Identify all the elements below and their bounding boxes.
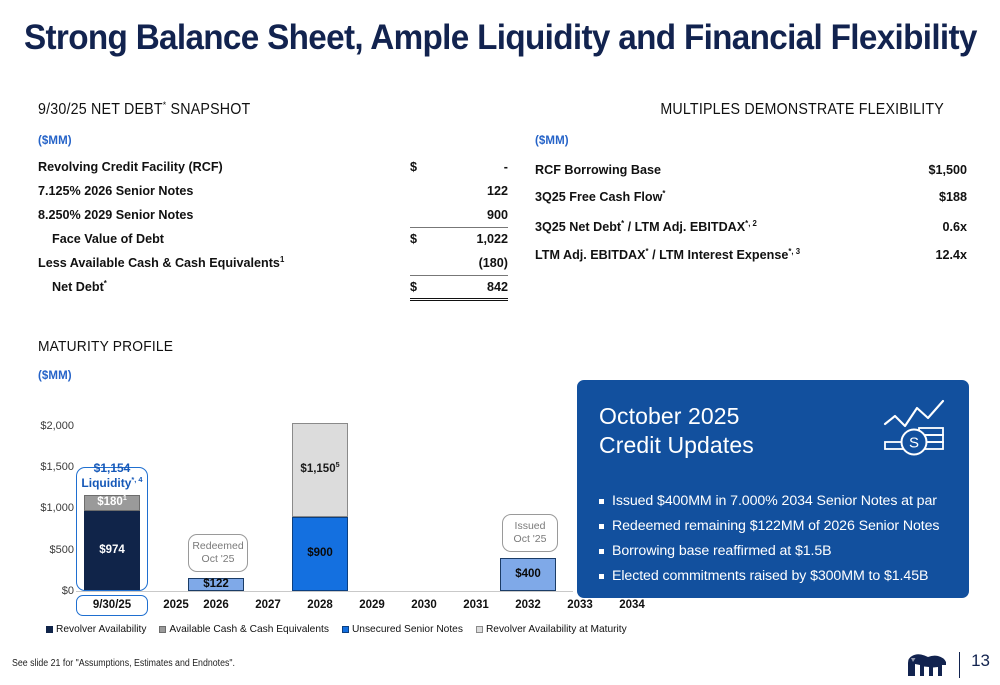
bullet-icon xyxy=(599,549,604,554)
issued-note-box: Issued Oct '25 xyxy=(502,514,558,552)
multiples-unit-label: ($MM) xyxy=(535,135,569,147)
row-value: 122 xyxy=(440,179,508,203)
row-value: $188 xyxy=(897,182,967,212)
legend-swatch-icon xyxy=(342,626,349,633)
list-item-label: Redeemed remaining $122MM of 2026 Senior… xyxy=(612,517,939,535)
net-debt-heading-main: 9/30/25 NET DEBT xyxy=(38,101,163,118)
table-row: 7.125% 2026 Senior Notes 122 xyxy=(38,179,508,203)
x-axis-label-2030: 2030 xyxy=(400,599,448,611)
bar-segment-revolver-availability: $974 xyxy=(84,511,140,591)
x-axis-label-2027: 2027 xyxy=(244,599,292,611)
x-axis-label-2031: 2031 xyxy=(452,599,500,611)
row-label: RCF Borrowing Base xyxy=(535,158,897,182)
row-label: 8.250% 2029 Senior Notes xyxy=(38,203,410,227)
callout-bullet-list: Issued $400MM in 7.000% 2034 Senior Note… xyxy=(599,492,955,592)
legend-swatch-icon xyxy=(476,626,483,633)
row-label-text: Net Debt xyxy=(52,280,104,294)
legend-label: Revolver Availability at Maturity xyxy=(486,624,627,635)
row-currency xyxy=(410,251,440,275)
note-line-1: Issued xyxy=(515,520,546,533)
table-row: LTM Adj. EBITDAX* / LTM Interest Expense… xyxy=(535,242,967,268)
bar-9-30-25: $974 $1801 xyxy=(84,495,140,591)
x-axis-label-2034: 2034 xyxy=(608,599,656,611)
callout-title-line-2: Credit Updates xyxy=(599,432,754,458)
footnote: See slide 21 for "Assumptions, Estimates… xyxy=(12,658,235,669)
liquidity-label: $1,154 Liquidity*, 4 xyxy=(76,461,148,490)
row-value: 842 xyxy=(440,275,508,299)
list-item: Issued $400MM in 7.000% 2034 Senior Note… xyxy=(599,492,955,510)
liquidity-amount: $1,154 xyxy=(94,461,131,475)
x-axis-label-2029: 2029 xyxy=(348,599,396,611)
bar-2029: $900 $1,1505 xyxy=(292,423,348,591)
row-label-footnote: * xyxy=(104,279,107,288)
bullet-icon xyxy=(599,574,604,579)
row-label-text: 3Q25 Free Cash Flow xyxy=(535,190,662,204)
y-tick-label: $1,000 xyxy=(28,502,74,514)
page-number: 13 xyxy=(971,651,990,671)
slide-root: Strong Balance Sheet, Ample Liquidity an… xyxy=(0,0,1000,685)
liquidity-footnote: *, 4 xyxy=(131,475,142,484)
x-axis-label-2026: 2026 xyxy=(192,599,240,611)
note-line-1: Redeemed xyxy=(192,540,243,553)
row-label: Face Value of Debt xyxy=(38,227,410,251)
redeemed-note-box: Redeemed Oct '25 xyxy=(188,534,248,572)
x-axis-label-9-30-25: 9/30/25 xyxy=(76,599,148,611)
row-value: - xyxy=(440,155,508,179)
multiples-table: RCF Borrowing Base $1,500 3Q25 Free Cash… xyxy=(535,158,967,268)
row-currency: $ xyxy=(410,275,440,299)
list-item: Elected commitments raised by $300MM to … xyxy=(599,567,955,585)
bar-segment-unsecured-senior-notes: $400 xyxy=(500,558,556,591)
maturity-heading: MATURITY PROFILE xyxy=(38,338,173,355)
row-currency: $ xyxy=(410,155,440,179)
company-logo-icon xyxy=(906,652,948,678)
credit-updates-callout: October 2025 Credit Updates S Issued $40… xyxy=(577,380,969,598)
table-row: 3Q25 Net Debt* / LTM Adj. EBITDAX*, 2 0.… xyxy=(535,212,967,242)
multiples-heading: MULTIPLES DEMONSTRATE FLEXIBILITY xyxy=(660,101,944,119)
legend-label: Revolver Availability xyxy=(56,624,146,635)
bar-2034: $400 xyxy=(500,558,556,591)
legend-item-available-cash: Available Cash & Cash Equivalents xyxy=(159,624,329,635)
y-tick-label: $0 xyxy=(28,585,74,597)
table-row: Face Value of Debt $ 1,022 xyxy=(38,227,508,251)
net-debt-table: Revolving Credit Facility (RCF) $ - 7.12… xyxy=(38,155,508,301)
x-axis-label-2032: 2032 xyxy=(504,599,552,611)
row-value: 900 xyxy=(440,203,508,227)
table-row: Revolving Credit Facility (RCF) $ - xyxy=(38,155,508,179)
y-tick-label: $2,000 xyxy=(28,420,74,432)
y-tick-label: $1,500 xyxy=(28,461,74,473)
row-value: $1,500 xyxy=(897,158,967,182)
callout-title: October 2025 Credit Updates xyxy=(599,402,754,460)
row-label: 3Q25 Free Cash Flow* xyxy=(535,182,897,212)
net-debt-heading-tail: SNAPSHOT xyxy=(166,101,250,118)
legend-item-revolver-availability: Revolver Availability xyxy=(46,624,146,635)
maturity-chart: $2,000 $1,500 $1,000 $500 $0 $974 $1801 … xyxy=(28,415,573,600)
row-label: 3Q25 Net Debt* / LTM Adj. EBITDAX*, 2 xyxy=(535,212,897,242)
list-item: Redeemed remaining $122MM of 2026 Senior… xyxy=(599,517,955,535)
maturity-unit-label: ($MM) xyxy=(38,370,72,382)
liquidity-word: Liquidity xyxy=(81,476,131,490)
table-row: RCF Borrowing Base $1,500 xyxy=(535,158,967,182)
list-item: Borrowing base reaffirmed at $1.5B xyxy=(599,542,955,560)
legend-swatch-icon xyxy=(159,626,166,633)
row-value: (180) xyxy=(440,251,508,275)
legend-item-unsecured-senior-notes: Unsecured Senior Notes xyxy=(342,624,463,635)
bar-segment-available-cash: $1801 xyxy=(84,495,140,511)
bullet-icon xyxy=(599,524,604,529)
bar-value-label: $400 xyxy=(515,569,541,581)
bar-segment-unsecured-senior-notes: $122 xyxy=(188,578,244,591)
bar-2026: $122 xyxy=(188,578,244,591)
x-axis-label-2028: 2028 xyxy=(296,599,344,611)
bar-segment-revolver-availability-at-maturity: $1,1505 xyxy=(292,423,348,517)
bar-segment-unsecured-senior-notes: $900 xyxy=(292,517,348,591)
row-currency: $ xyxy=(410,227,440,251)
row-label-text: Less Available Cash & Cash Equivalents xyxy=(38,256,280,270)
list-item-label: Issued $400MM in 7.000% 2034 Senior Note… xyxy=(612,492,937,510)
bar-value-label: $1,1505 xyxy=(300,464,339,476)
legend-label: Available Cash & Cash Equivalents xyxy=(169,624,329,635)
chart-legend: Revolver Availability Available Cash & C… xyxy=(46,624,627,635)
bullet-icon xyxy=(599,499,604,504)
x-axis-label-2033: 2033 xyxy=(556,599,604,611)
x-axis-line xyxy=(76,591,573,592)
callout-title-line-1: October 2025 xyxy=(599,403,740,429)
row-value: 1,022 xyxy=(440,227,508,251)
row-label: LTM Adj. EBITDAX* / LTM Interest Expense… xyxy=(535,242,897,268)
bar-value-label: $1801 xyxy=(97,497,127,509)
net-debt-unit-label: ($MM) xyxy=(38,135,72,147)
logo-divider xyxy=(959,652,960,678)
table-row: 3Q25 Free Cash Flow* $188 xyxy=(535,182,967,212)
table-row: 8.250% 2029 Senior Notes 900 xyxy=(38,203,508,227)
legend-swatch-icon xyxy=(46,626,53,633)
row-currency xyxy=(410,203,440,227)
row-currency xyxy=(410,179,440,203)
svg-text:S: S xyxy=(909,435,919,452)
page-title: Strong Balance Sheet, Ample Liquidity an… xyxy=(24,18,936,58)
row-label: Revolving Credit Facility (RCF) xyxy=(38,155,410,179)
row-label: Less Available Cash & Cash Equivalents1 xyxy=(38,251,410,275)
table-row: Net Debt* $ 842 xyxy=(38,275,508,299)
row-label: Net Debt* xyxy=(38,275,410,299)
row-label-footnote: * xyxy=(662,189,665,198)
bar-value-label: $122 xyxy=(203,579,229,591)
bar-value-label: $900 xyxy=(307,548,333,560)
row-label: 7.125% 2026 Senior Notes xyxy=(38,179,410,203)
bar-value-label: $974 xyxy=(99,545,125,557)
row-value: 12.4x xyxy=(897,242,967,268)
list-item-label: Elected commitments raised by $300MM to … xyxy=(612,567,928,585)
note-line-2: Oct '25 xyxy=(514,533,547,546)
net-debt-heading: 9/30/25 NET DEBT* SNAPSHOT xyxy=(38,101,250,119)
list-item-label: Borrowing base reaffirmed at $1.5B xyxy=(612,542,832,560)
legend-item-revolver-availability-at-maturity: Revolver Availability at Maturity xyxy=(476,624,627,635)
y-tick-label: $500 xyxy=(28,544,74,556)
row-label-footnote: 1 xyxy=(280,255,284,264)
legend-label: Unsecured Senior Notes xyxy=(352,624,463,635)
row-value: 0.6x xyxy=(897,212,967,242)
note-line-2: Oct '25 xyxy=(202,553,235,566)
chart-coins-icon: S xyxy=(881,398,947,460)
table-row: Less Available Cash & Cash Equivalents1 … xyxy=(38,251,508,275)
